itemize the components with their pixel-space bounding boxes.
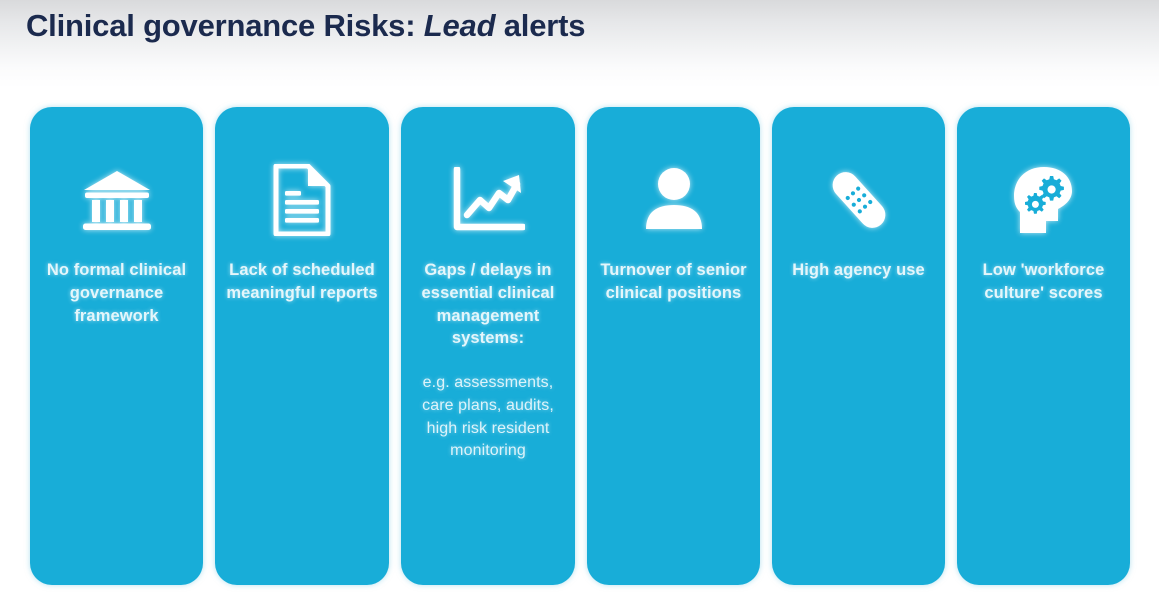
risk-card-label: Lack of scheduled meaningful reports — [215, 259, 389, 305]
risk-card-governance-framework[interactable]: No formal clinical governance framework — [30, 107, 203, 585]
risk-card-label: No formal clinical governance framework — [30, 259, 203, 327]
slide-canvas: Clinical governance Risks: Lead alerts N… — [0, 0, 1159, 611]
line-chart-growth-icon — [451, 145, 525, 255]
risk-card-workforce-culture[interactable]: Low 'workforce culture' scores — [957, 107, 1130, 585]
bank-institution-icon — [81, 145, 153, 255]
head-gears-mindset-icon — [1008, 145, 1080, 255]
risk-card-label: Gaps / delays in essential clinical mana… — [401, 259, 575, 350]
risk-card-scheduled-reports[interactable]: Lack of scheduled meaningful reports — [215, 107, 389, 585]
page-title: Clinical governance Risks: Lead alerts — [26, 8, 585, 44]
risk-card-label: Turnover of senior clinical positions — [587, 259, 760, 305]
risk-card-senior-turnover[interactable]: Turnover of senior clinical positions — [587, 107, 760, 585]
risk-card-row: No formal clinical governance framework … — [30, 107, 1130, 585]
page-title-suffix: alerts — [495, 8, 585, 43]
page-title-prefix: Clinical governance Risks: — [26, 8, 424, 43]
page-title-emphasis: Lead — [424, 8, 496, 43]
risk-card-label: High agency use — [783, 259, 934, 282]
risk-card-sublabel: e.g. assessments, care plans, audits, hi… — [401, 372, 575, 463]
adhesive-bandage-icon — [821, 145, 897, 255]
risk-card-label: Low 'workforce culture' scores — [957, 259, 1130, 305]
risk-card-agency-use[interactable]: High agency use — [772, 107, 945, 585]
document-report-icon — [272, 145, 332, 255]
risk-card-clinical-systems[interactable]: Gaps / delays in essential clinical mana… — [401, 107, 575, 585]
person-user-icon — [640, 145, 708, 255]
